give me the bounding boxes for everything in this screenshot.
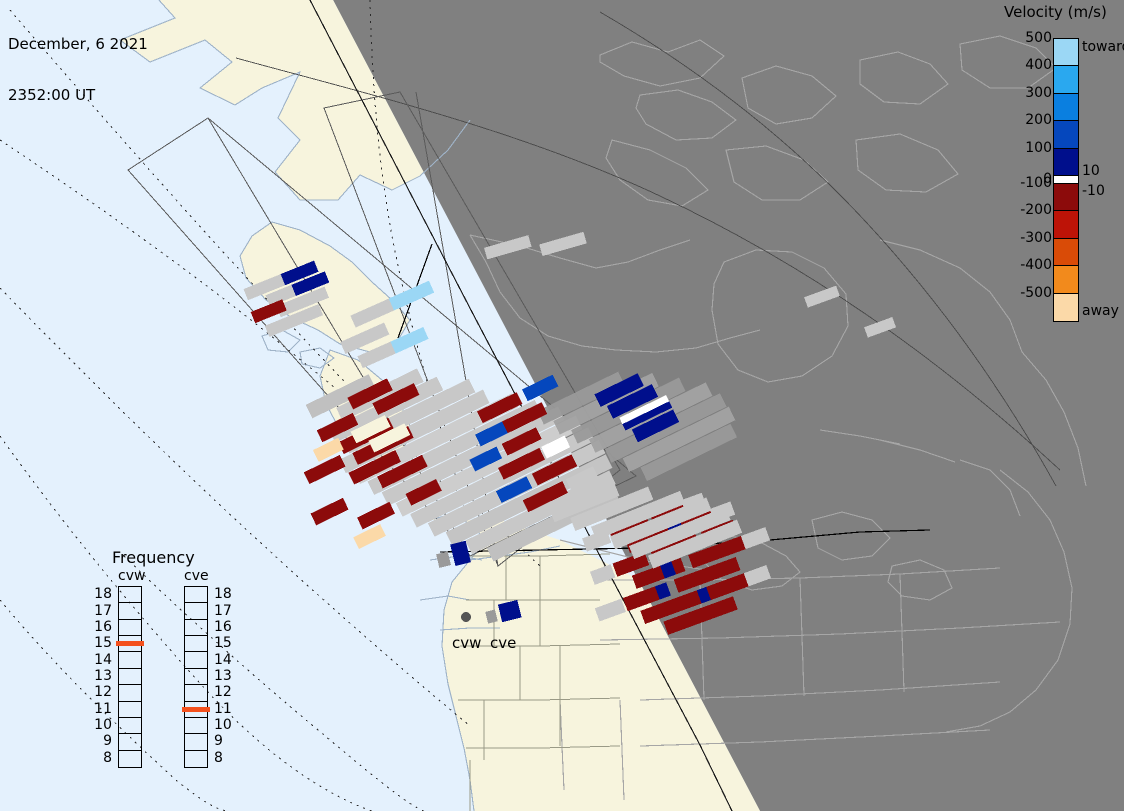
- frequency-tick-cve-10: 10: [214, 717, 232, 733]
- velocity-legend-title: Velocity (m/s): [1004, 3, 1107, 21]
- velocity-band-away-0: [1054, 184, 1078, 211]
- frequency-cell: [119, 620, 141, 636]
- frequency-cell: [185, 620, 207, 636]
- timestamp: December, 6 2021 2352:00 UT: [8, 2, 148, 138]
- frequency-tick-cvw-18: 18: [88, 586, 112, 602]
- frequency-tick-cvw-16: 16: [88, 619, 112, 635]
- frequency-tick-cve-8: 8: [214, 750, 223, 766]
- velocity-band-toward-1: [1054, 66, 1078, 93]
- frequency-tick-cve-14: 14: [214, 652, 232, 668]
- frequency-cell: [119, 587, 141, 603]
- velocity-band-away-3: [1054, 266, 1078, 293]
- frequency-cell: [119, 652, 141, 668]
- frequency-cell: [185, 603, 207, 619]
- frequency-radar-name-cve: cve: [184, 568, 209, 584]
- frequency-legend-title: Frequency: [112, 548, 195, 567]
- frequency-tick-cve-17: 17: [214, 603, 232, 619]
- frequency-tick-cve-16: 16: [214, 619, 232, 635]
- frequency-cell: [185, 685, 207, 701]
- velocity-legend: Velocity (m/s) 5004003002001000-100-200-…: [996, 0, 1124, 336]
- frequency-scale-cve: [184, 586, 208, 768]
- velocity-tick-400: 400: [1025, 57, 1052, 73]
- velocity-band-toward-2: [1054, 94, 1078, 121]
- velocity-tick--200: -200: [1020, 202, 1052, 218]
- velocity-tick--500: -500: [1020, 285, 1052, 301]
- frequency-tick-cvw-10: 10: [88, 717, 112, 733]
- velocity-label-lower-threshold: -10: [1082, 183, 1105, 199]
- velocity-colorbar: [1053, 38, 1079, 322]
- frequency-tick-cvw-12: 12: [88, 684, 112, 700]
- frequency-tick-cve-9: 9: [214, 733, 223, 749]
- frequency-cell: [185, 669, 207, 685]
- frequency-cell: [119, 718, 141, 734]
- frequency-cell: [119, 685, 141, 701]
- frequency-cell: [185, 734, 207, 750]
- velocity-band-toward-0: [1054, 39, 1078, 66]
- velocity-band-toward-3: [1054, 121, 1078, 148]
- frequency-tick-cvw-15: 15: [88, 635, 112, 651]
- frequency-marker-cvw: [116, 641, 144, 646]
- radar-site-dot: [461, 612, 471, 622]
- frequency-tick-cvw-11: 11: [88, 701, 112, 717]
- velocity-label-away: away: [1082, 303, 1119, 319]
- velocity-band-away-2: [1054, 239, 1078, 266]
- velocity-tick-500: 500: [1025, 30, 1052, 46]
- frequency-tick-cve-18: 18: [214, 586, 232, 602]
- frequency-tick-cvw-17: 17: [88, 603, 112, 619]
- timestamp-time: 2352:00 UT: [8, 87, 148, 104]
- frequency-cell: [119, 734, 141, 750]
- radar-map-figure: December, 6 2021 2352:00 UT cvw cve Velo…: [0, 0, 1124, 811]
- frequency-cell: [185, 587, 207, 603]
- frequency-tick-cve-15: 15: [214, 635, 232, 651]
- frequency-legend: Frequency cvw18171615141312111098cve1817…: [92, 548, 252, 788]
- site-label-cve: cve: [490, 634, 516, 652]
- frequency-tick-cvw-13: 13: [88, 668, 112, 684]
- velocity-label-toward: toward: [1082, 39, 1124, 55]
- frequency-tick-cve-11: 11: [214, 701, 232, 717]
- velocity-tick--400: -400: [1020, 257, 1052, 273]
- velocity-band-neutral: [1054, 176, 1078, 184]
- frequency-radar-name-cvw: cvw: [118, 568, 145, 584]
- velocity-tick-300: 300: [1025, 85, 1052, 101]
- velocity-tick-200: 200: [1025, 112, 1052, 128]
- site-label-cvw: cvw: [452, 634, 481, 652]
- frequency-marker-cve: [182, 707, 210, 712]
- velocity-tick-100: 100: [1025, 140, 1052, 156]
- frequency-cell: [185, 718, 207, 734]
- velocity-label-upper-threshold: 10: [1082, 163, 1100, 179]
- velocity-tick--300: -300: [1020, 230, 1052, 246]
- frequency-cell: [119, 603, 141, 619]
- velocity-tick--100: -100: [1020, 175, 1052, 191]
- frequency-tick-cve-13: 13: [214, 668, 232, 684]
- frequency-tick-cvw-9: 9: [88, 733, 112, 749]
- frequency-cell: [119, 751, 141, 767]
- frequency-tick-cve-12: 12: [214, 684, 232, 700]
- frequency-tick-cvw-14: 14: [88, 652, 112, 668]
- velocity-band-toward-4: [1054, 149, 1078, 176]
- frequency-cell: [119, 702, 141, 718]
- frequency-cell: [185, 652, 207, 668]
- frequency-tick-cvw-8: 8: [88, 750, 112, 766]
- frequency-scale-cvw: [118, 586, 142, 768]
- timestamp-date: December, 6 2021: [8, 36, 148, 53]
- frequency-cell: [185, 636, 207, 652]
- velocity-band-away-4: [1054, 294, 1078, 321]
- frequency-cell: [119, 669, 141, 685]
- velocity-band-away-1: [1054, 211, 1078, 238]
- frequency-cell: [185, 751, 207, 767]
